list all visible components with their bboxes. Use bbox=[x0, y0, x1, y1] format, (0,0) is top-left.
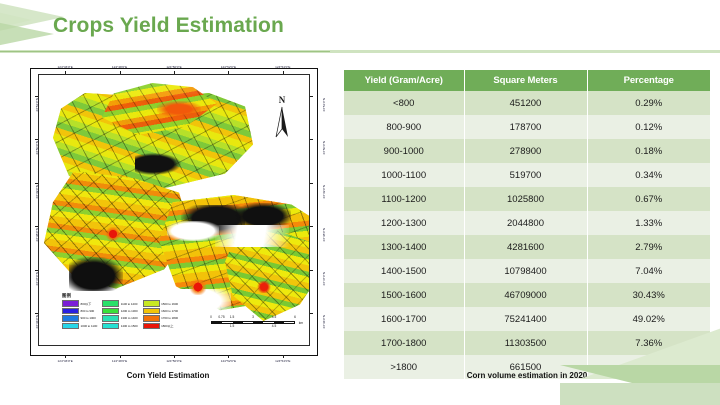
axis-tick bbox=[283, 355, 284, 358]
scalebar-segment bbox=[222, 322, 232, 323]
cell-percentage: 30.43% bbox=[587, 283, 710, 307]
legend-swatch bbox=[62, 308, 79, 314]
axis-tick-label: 124°46'0"E bbox=[58, 65, 73, 69]
table-header-row: Yield (Gram/Acre) Square Meters Percenta… bbox=[344, 70, 710, 91]
scalebar-segment bbox=[253, 322, 263, 323]
map-axis-longitude-top: 124°46'0"E 124°48'0"E 124°50'0"E 124°52'… bbox=[38, 65, 310, 74]
legend-swatch bbox=[102, 300, 119, 306]
scalebar-label: 6 bbox=[294, 315, 296, 319]
axis-tick bbox=[310, 139, 313, 140]
legend-item: 1300 to 1400 bbox=[102, 315, 137, 321]
corn-yield-map-figure: N 图例 800以下 800 to 900 bbox=[12, 66, 324, 363]
cell-percentage: 0.29% bbox=[587, 91, 710, 115]
legend-label: 900 to 1000 bbox=[81, 316, 96, 320]
map-axis-latitude-right: 44°51'0"N 44°50'0"N 44°49'0"N 44°48'0"N … bbox=[310, 74, 321, 346]
map-legend: 图例 800以下 800 to 900 900 to 1000 bbox=[59, 291, 181, 331]
legend-label: 1700 to 1800 bbox=[161, 316, 178, 320]
legend-title: 图例 bbox=[62, 293, 178, 299]
scalebar-label: 0 bbox=[210, 315, 212, 319]
table-row: 1500-1600 46709000 30.43% bbox=[344, 283, 710, 307]
header-chevron-decoration-2 bbox=[0, 20, 54, 48]
scalebar-segment bbox=[263, 322, 273, 323]
table-row: 1100-1200 1025800 0.67% bbox=[344, 187, 710, 211]
cell-percentage: 1.33% bbox=[587, 211, 710, 235]
cell-square-meters: 11303500 bbox=[464, 331, 587, 355]
raster-hotspot-2 bbox=[189, 279, 207, 295]
cell-square-meters: 4281600 bbox=[464, 235, 587, 259]
raster-hotspot-1 bbox=[105, 227, 121, 241]
scalebar-label: 1.5 bbox=[230, 315, 234, 319]
cell-percentage: 7.04% bbox=[587, 259, 710, 283]
axis-tick bbox=[35, 313, 38, 314]
axis-tick bbox=[228, 355, 229, 358]
table-row: 1300-1400 4281600 2.79% bbox=[344, 235, 710, 259]
scalebar-segment bbox=[212, 322, 222, 323]
scalebar-segment bbox=[274, 322, 284, 323]
cell-percentage: 7.36% bbox=[587, 331, 710, 355]
legend-label: 1400 to 1500 bbox=[121, 324, 138, 328]
cell-square-meters: 10798400 bbox=[464, 259, 587, 283]
table-row: 1400-1500 10798400 7.04% bbox=[344, 259, 710, 283]
axis-tick-label: 44°46'0"N bbox=[35, 315, 39, 329]
legend-label: 1100 to 1200 bbox=[121, 302, 138, 306]
axis-tick-label: 44°50'0"N bbox=[322, 141, 326, 155]
cell-square-meters: 2044800 bbox=[464, 211, 587, 235]
axis-tick-label: 44°46'0"N bbox=[322, 315, 326, 329]
axis-tick-label: 124°54'0"E bbox=[275, 359, 290, 363]
legend-swatch bbox=[102, 323, 119, 329]
legend-column-3: 1500 to 1600 1600 to 1700 1700 to 1800 1… bbox=[143, 300, 178, 329]
legend-item: 1700 to 1800 bbox=[143, 315, 178, 321]
scalebar-segment bbox=[284, 322, 294, 323]
cell-yield: 1700-1800 bbox=[344, 331, 464, 355]
map-scalebar: 0 0.75 1.5 3 4.5 6 km 1.5 4.5 bbox=[211, 315, 295, 329]
figure-caption-left: Corn Yield Estimation bbox=[12, 371, 324, 380]
table-row: 1600-1700 75241400 49.02% bbox=[344, 307, 710, 331]
legend-swatch bbox=[62, 323, 79, 329]
legend-swatch bbox=[102, 315, 119, 321]
raster-hotspot-4 bbox=[157, 101, 201, 117]
legend-swatch bbox=[143, 315, 160, 321]
scalebar-tick-label: 1.5 bbox=[230, 324, 234, 328]
cell-yield: <800 bbox=[344, 91, 464, 115]
table-row: 900-1000 278900 0.18% bbox=[344, 139, 710, 163]
axis-tick-label: 44°48'0"N bbox=[322, 228, 326, 242]
cell-square-meters: 1025800 bbox=[464, 187, 587, 211]
raster-nodata-patch-2 bbox=[215, 225, 289, 247]
axis-tick-label: 44°48'0"N bbox=[35, 228, 39, 242]
legend-item: 1500 to 1600 bbox=[143, 300, 178, 306]
axis-tick bbox=[35, 226, 38, 227]
table-row: <800 451200 0.29% bbox=[344, 91, 710, 115]
figure-caption-right: Corn volume estimation in 2020 bbox=[344, 371, 710, 380]
axis-tick bbox=[310, 226, 313, 227]
legend-item: 1200 to 1300 bbox=[102, 308, 137, 314]
legend-label: 1300 to 1400 bbox=[121, 316, 138, 320]
axis-tick bbox=[35, 183, 38, 184]
axis-tick-label: 124°48'0"E bbox=[112, 65, 127, 69]
cell-yield: 1000-1100 bbox=[344, 163, 464, 187]
legend-label: 1800以上 bbox=[161, 324, 173, 328]
cell-square-meters: 278900 bbox=[464, 139, 587, 163]
scalebar-segment bbox=[233, 322, 243, 323]
axis-tick bbox=[310, 96, 313, 97]
cell-square-meters: 451200 bbox=[464, 91, 587, 115]
cell-yield: 900-1000 bbox=[344, 139, 464, 163]
axis-tick-label: 124°48'0"E bbox=[112, 359, 127, 363]
legend-label: 800以下 bbox=[81, 302, 92, 306]
cell-percentage: 0.18% bbox=[587, 139, 710, 163]
map-axis-latitude-left: 44°51'0"N 44°50'0"N 44°49'0"N 44°48'0"N … bbox=[27, 74, 38, 346]
map-plot-area: N 图例 800以下 800 to 900 bbox=[38, 74, 310, 346]
cell-yield: 1100-1200 bbox=[344, 187, 464, 211]
legend-label: 1500 to 1600 bbox=[161, 302, 178, 306]
axis-tick-label: 124°46'0"E bbox=[58, 359, 73, 363]
table-row: 1700-1800 11303500 7.36% bbox=[344, 331, 710, 355]
scalebar-segment bbox=[243, 322, 253, 323]
legend-item: 1800以上 bbox=[143, 323, 178, 329]
footer-decoration-bar bbox=[560, 383, 720, 405]
cell-yield: 1400-1500 bbox=[344, 259, 464, 283]
column-header-square-meters: Square Meters bbox=[464, 70, 587, 91]
legend-item: 1100 to 1200 bbox=[102, 300, 137, 306]
legend-item: 900 to 1000 bbox=[62, 315, 97, 321]
cell-yield: 1200-1300 bbox=[344, 211, 464, 235]
scalebar-bottom-labels: 1.5 4.5 bbox=[211, 324, 295, 329]
cell-square-meters: 75241400 bbox=[464, 307, 587, 331]
cell-percentage: 0.12% bbox=[587, 115, 710, 139]
scalebar-label: 3 bbox=[252, 315, 254, 319]
axis-tick bbox=[310, 313, 313, 314]
axis-tick-label: 124°52'0"E bbox=[221, 359, 236, 363]
axis-tick bbox=[174, 71, 175, 74]
scalebar-label: 0.75 bbox=[218, 315, 224, 319]
table-row: 800-900 178700 0.12% bbox=[344, 115, 710, 139]
north-arrow-label: N bbox=[271, 95, 293, 105]
legend-columns: 800以下 800 to 900 900 to 1000 1000 to 110… bbox=[62, 300, 178, 329]
axis-tick bbox=[120, 355, 121, 358]
scalebar-tick-label: 4.5 bbox=[272, 324, 276, 328]
legend-item: 1000 to 1100 bbox=[62, 323, 97, 329]
corn-volume-estimation-table: Yield (Gram/Acre) Square Meters Percenta… bbox=[344, 70, 710, 379]
legend-item: 800以下 bbox=[62, 300, 97, 306]
axis-tick-label: 44°51'0"N bbox=[322, 98, 326, 112]
legend-item: 800 to 900 bbox=[62, 308, 97, 314]
legend-swatch bbox=[143, 323, 160, 329]
column-header-percentage: Percentage bbox=[587, 70, 710, 91]
legend-column-2: 1100 to 1200 1200 to 1300 1300 to 1400 1… bbox=[102, 300, 137, 329]
axis-tick bbox=[35, 139, 38, 140]
axis-tick bbox=[310, 183, 313, 184]
axis-tick-label: 124°50'0"E bbox=[166, 65, 181, 69]
axis-tick bbox=[65, 355, 66, 358]
legend-label: 1600 to 1700 bbox=[161, 309, 178, 313]
axis-tick bbox=[65, 71, 66, 74]
legend-label: 1200 to 1300 bbox=[121, 309, 138, 313]
raster-dark-patch-1 bbox=[135, 153, 181, 175]
raster-dark-patch-3 bbox=[69, 257, 123, 291]
cell-percentage: 2.79% bbox=[587, 235, 710, 259]
axis-tick bbox=[35, 96, 38, 97]
cell-yield: 1500-1600 bbox=[344, 283, 464, 307]
legend-column-1: 800以下 800 to 900 900 to 1000 1000 to 110… bbox=[62, 300, 97, 329]
north-arrow: N bbox=[271, 95, 293, 143]
axis-tick-label: 44°49'0"N bbox=[35, 185, 39, 199]
scalebar-unit: km bbox=[299, 321, 303, 325]
axis-tick bbox=[174, 355, 175, 358]
axis-tick-label: 124°50'0"E bbox=[166, 359, 181, 363]
axis-tick bbox=[228, 71, 229, 74]
legend-swatch bbox=[143, 308, 160, 314]
raster-nodata-patch-1 bbox=[167, 221, 219, 241]
cell-yield: 1300-1400 bbox=[344, 235, 464, 259]
page-title: Crops Yield Estimation bbox=[53, 14, 284, 38]
legend-swatch bbox=[62, 300, 79, 306]
legend-item: 1600 to 1700 bbox=[143, 308, 178, 314]
scalebar-label: 4.5 bbox=[272, 315, 276, 319]
axis-tick-label: 44°51'0"N bbox=[35, 98, 39, 112]
cell-square-meters: 519700 bbox=[464, 163, 587, 187]
axis-tick bbox=[310, 270, 313, 271]
axis-tick bbox=[283, 71, 284, 74]
axis-tick bbox=[120, 71, 121, 74]
legend-swatch bbox=[143, 300, 160, 306]
legend-swatch bbox=[102, 308, 119, 314]
cell-yield: 800-900 bbox=[344, 115, 464, 139]
table-row: 1000-1100 519700 0.34% bbox=[344, 163, 710, 187]
cell-square-meters: 46709000 bbox=[464, 283, 587, 307]
cell-yield: 1600-1700 bbox=[344, 307, 464, 331]
title-divider-accent bbox=[0, 51, 330, 52]
axis-tick-label: 44°47'0"N bbox=[322, 272, 326, 286]
map-axis-longitude-bottom: 124°46'0"E 124°48'0"E 124°50'0"E 124°52'… bbox=[38, 355, 310, 364]
cell-square-meters: 178700 bbox=[464, 115, 587, 139]
legend-label: 1000 to 1100 bbox=[81, 324, 98, 328]
cell-percentage: 49.02% bbox=[587, 307, 710, 331]
legend-label: 800 to 900 bbox=[81, 309, 95, 313]
raster-hotspot-3 bbox=[257, 281, 271, 293]
table-row: 1200-1300 2044800 1.33% bbox=[344, 211, 710, 235]
axis-tick-label: 124°54'0"E bbox=[275, 65, 290, 69]
cell-percentage: 0.67% bbox=[587, 187, 710, 211]
column-header-yield: Yield (Gram/Acre) bbox=[344, 70, 464, 91]
axis-tick-label: 44°49'0"N bbox=[322, 185, 326, 199]
axis-tick-label: 44°50'0"N bbox=[35, 141, 39, 155]
legend-swatch bbox=[62, 315, 79, 321]
axis-tick-label: 124°52'0"E bbox=[221, 65, 236, 69]
cell-percentage: 0.34% bbox=[587, 163, 710, 187]
axis-tick-label: 44°47'0"N bbox=[35, 272, 39, 286]
north-arrow-icon bbox=[271, 105, 293, 139]
axis-tick bbox=[35, 270, 38, 271]
legend-item: 1400 to 1500 bbox=[102, 323, 137, 329]
